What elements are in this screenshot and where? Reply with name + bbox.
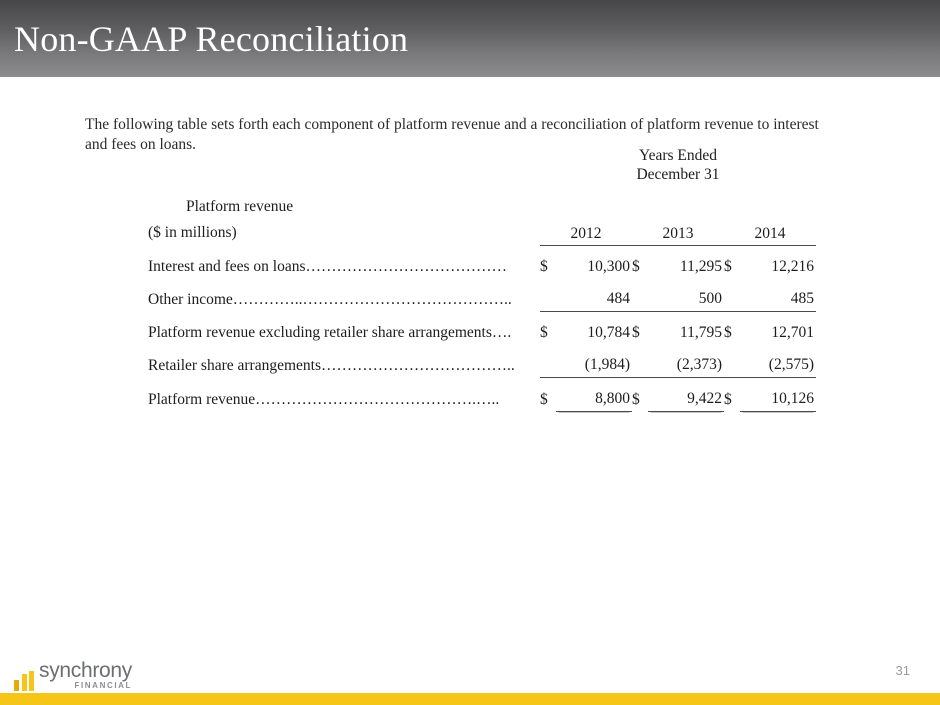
row-value-2013: 500 xyxy=(648,278,724,312)
row-label: Interest and fees on loans………………………………… xyxy=(148,245,540,278)
row-value-2012: 484 xyxy=(556,278,632,312)
row-currency-2014 xyxy=(724,344,740,378)
table-total-row: Platform revenue…………………………………….….. $ 8,8… xyxy=(148,377,816,411)
logo-wordmark-group: synchrony FINANCIAL xyxy=(39,661,132,691)
spacer-cell xyxy=(148,146,540,190)
row-value-2014: (2,575) xyxy=(740,344,816,378)
row-value-2012: (1,984) xyxy=(556,344,632,378)
row-currency-2014 xyxy=(724,278,740,312)
period-heading-line2: December 31 xyxy=(540,165,816,184)
row-currency-2012 xyxy=(540,344,556,378)
row-value-2014: 12,701 xyxy=(740,311,816,344)
table-row: Other income…………..………………………………….. 484 50… xyxy=(148,278,816,312)
table-period-heading-row: Years Ended December 31 xyxy=(148,146,816,190)
row-value-2013: (2,373) xyxy=(648,344,724,378)
row-label: Platform revenue…………………………………….….. xyxy=(148,377,540,411)
row-value-2014: 12,216 xyxy=(740,245,816,278)
row-currency-2014: $ xyxy=(724,245,740,278)
row-currency-2013 xyxy=(632,344,648,378)
row-currency-2013 xyxy=(632,278,648,312)
row-currency-2012: $ xyxy=(540,377,556,411)
period-heading-line1: Years Ended xyxy=(639,147,717,164)
column-header-2012: 2012 xyxy=(540,220,632,245)
row-value-2012: 8,800 xyxy=(556,377,632,411)
table-section-title-row: Platform revenue xyxy=(148,190,816,220)
row-value-2014: 485 xyxy=(740,278,816,312)
row-value-2012: 10,784 xyxy=(556,311,632,344)
reconciliation-table: Years Ended December 31 Platform revenue… xyxy=(148,146,816,412)
row-currency-2014: $ xyxy=(724,311,740,344)
row-label: Other income…………..………………………………….. xyxy=(148,278,540,312)
slide-header-band: Non-GAAP Reconciliation xyxy=(0,0,940,77)
page-title: Non-GAAP Reconciliation xyxy=(14,17,408,61)
period-heading: Years Ended December 31 xyxy=(540,146,816,190)
table-row: Platform revenue excluding retailer shar… xyxy=(148,311,816,344)
row-value-2014: 10,126 xyxy=(740,377,816,411)
synchrony-logo: synchrony FINANCIAL xyxy=(14,661,132,691)
reconciliation-table-container: Years Ended December 31 Platform revenue… xyxy=(148,146,788,412)
column-header-2014: 2014 xyxy=(724,220,816,245)
logo-wordmark: synchrony xyxy=(39,661,132,681)
row-currency-2012 xyxy=(540,278,556,312)
unit-label: ($ in millions) xyxy=(148,220,540,245)
row-value-2013: 11,795 xyxy=(648,311,724,344)
logo-subtext: FINANCIAL xyxy=(39,681,132,691)
row-currency-2013: $ xyxy=(632,311,648,344)
row-currency-2013: $ xyxy=(632,245,648,278)
footer-accent-bar xyxy=(0,693,940,705)
row-value-2012: 10,300 xyxy=(556,245,632,278)
row-currency-2013: $ xyxy=(632,377,648,411)
table-row: Interest and fees on loans………………………………… … xyxy=(148,245,816,278)
row-value-2013: 11,295 xyxy=(648,245,724,278)
table-row: Retailer share arrangements……………………………….… xyxy=(148,344,816,378)
section-title: Platform revenue xyxy=(148,190,816,220)
row-value-2013: 9,422 xyxy=(648,377,724,411)
synchrony-bars-icon xyxy=(14,671,34,691)
row-currency-2012: $ xyxy=(540,311,556,344)
page-number: 31 xyxy=(896,663,910,678)
column-header-2013: 2013 xyxy=(632,220,724,245)
row-currency-2012: $ xyxy=(540,245,556,278)
table-column-header-row: ($ in millions) 2012 2013 2014 xyxy=(148,220,816,245)
row-label: Platform revenue excluding retailer shar… xyxy=(148,311,540,344)
row-label: Retailer share arrangements……………………………….… xyxy=(148,344,540,378)
row-currency-2014: $ xyxy=(724,377,740,411)
